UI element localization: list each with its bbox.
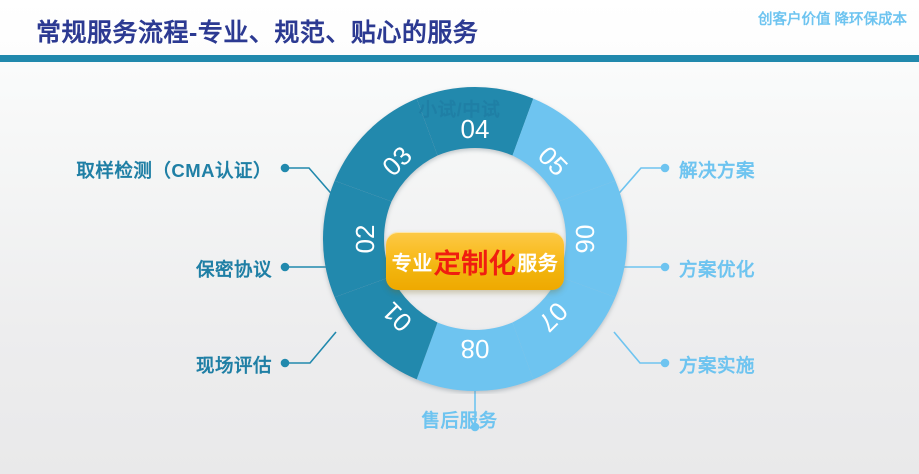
center-highlight: 定制化 bbox=[434, 242, 517, 281]
center-prefix: 专业 bbox=[392, 247, 433, 276]
label-right-07[interactable]: 方案实施 bbox=[679, 352, 755, 378]
wheel-number-08: 08 bbox=[461, 334, 490, 364]
center-badge: 专业 定制化 服务 bbox=[386, 232, 564, 290]
label-bottom-08[interactable]: 售后服务 bbox=[0, 407, 919, 433]
label-top-04[interactable]: 小试/中试 bbox=[0, 96, 919, 122]
process-diagram: 04 05 06 07 08 01 02 03 专业 定制化 服务 小试/中试 … bbox=[0, 62, 919, 474]
page-title: 常规服务流程-专业、规范、贴心的服务 bbox=[36, 13, 478, 49]
page-header: 常规服务流程-专业、规范、贴心的服务 创客户价值 降环保成本 bbox=[0, 0, 919, 55]
label-left-01[interactable]: 现场评估 bbox=[0, 352, 272, 378]
center-suffix: 服务 bbox=[517, 247, 558, 276]
header-divider bbox=[0, 55, 919, 62]
label-left-02[interactable]: 保密协议 bbox=[0, 256, 272, 282]
label-right-06[interactable]: 方案优化 bbox=[679, 256, 755, 282]
label-right-05[interactable]: 解决方案 bbox=[679, 157, 755, 183]
label-left-03[interactable]: 取样检测（CMA认证） bbox=[0, 157, 272, 183]
header-slogan: 创客户价值 降环保成本 bbox=[758, 8, 907, 29]
wheel-number-06: 06 bbox=[570, 225, 600, 254]
wheel-number-02: 02 bbox=[350, 225, 380, 254]
